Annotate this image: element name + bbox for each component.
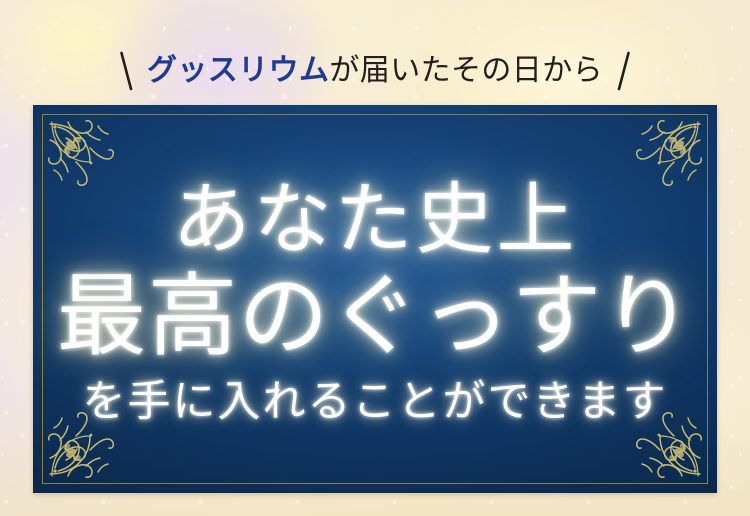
headline-line-1: あなた史上 bbox=[172, 181, 577, 259]
hero-banner: グッスリウムが届いたその日から bbox=[0, 0, 750, 516]
slash-left-icon bbox=[120, 51, 133, 91]
catch-copy-rest: が届いたその日から bbox=[329, 54, 603, 87]
headline-line-3: を手に入れることができます bbox=[83, 381, 668, 424]
slash-right-icon bbox=[617, 51, 630, 91]
brand-name: グッスリウム bbox=[147, 54, 329, 87]
catch-copy: グッスリウムが届いたその日から bbox=[0, 48, 750, 94]
headline-block: あなた史上 最高のぐっすり を手に入れることができます bbox=[33, 105, 717, 493]
catch-copy-text: グッスリウムが届いたその日から bbox=[147, 56, 603, 86]
headline-plaque: あなた史上 最高のぐっすり を手に入れることができます bbox=[33, 105, 717, 493]
headline-line-2: 最高のぐっすり bbox=[57, 273, 694, 363]
